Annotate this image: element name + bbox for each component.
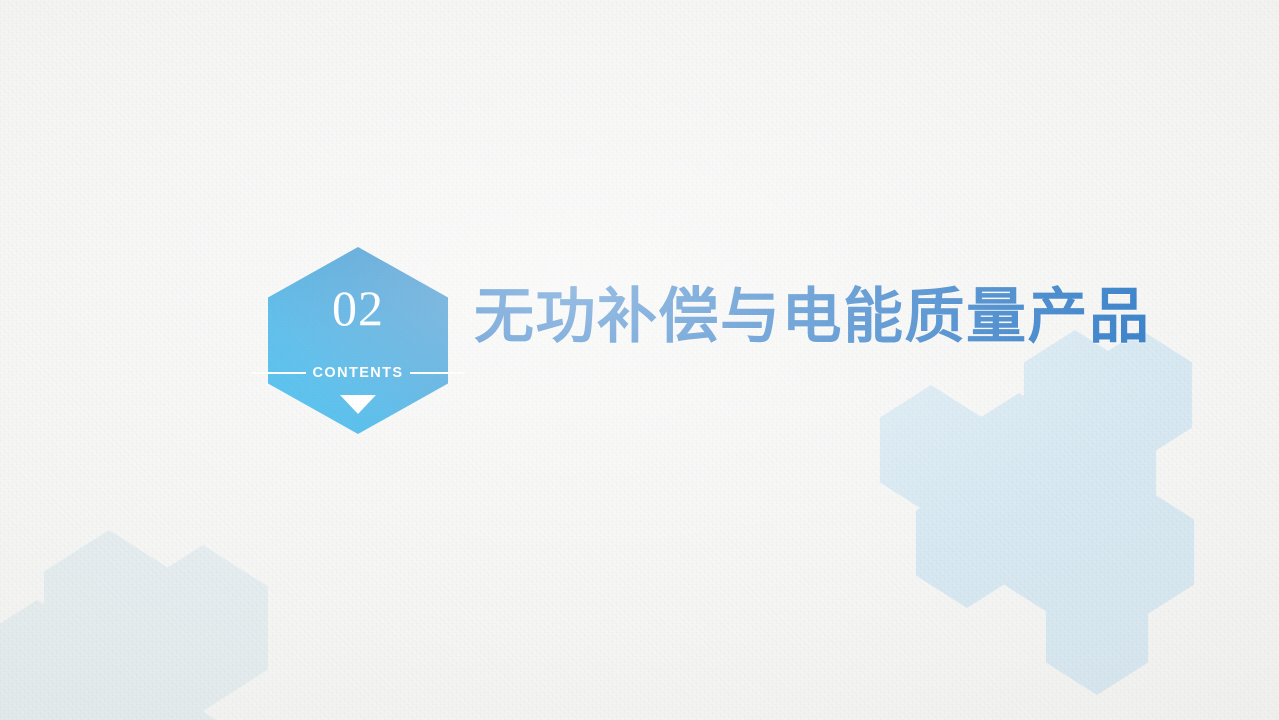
- decorative-hexagon: [996, 487, 1114, 617]
- decorative-hexagon-cluster-right: [0, 0, 1279, 720]
- decorative-hexagon: [1084, 487, 1202, 617]
- presentation-slide: 02 CONTENTS 无功补偿与电能质量产品: [0, 0, 1279, 720]
- decorative-hexagon: [872, 385, 990, 515]
- contents-label: CONTENTS: [313, 365, 404, 381]
- rule-right: [410, 372, 465, 374]
- decorative-hexagon: [1038, 565, 1156, 695]
- decorative-hexagon: [1046, 405, 1164, 535]
- section-number-badge: 02 CONTENTS: [268, 247, 448, 434]
- decorative-hexagon: [960, 393, 1078, 523]
- decorative-hexagon: [128, 545, 278, 711]
- page-title: 无功补偿与电能质量产品: [474, 286, 1151, 349]
- rule-left: [251, 372, 306, 374]
- decorative-hexagon: [64, 620, 214, 720]
- decorative-hexagon: [908, 478, 1026, 608]
- decorative-hexagon: [0, 600, 112, 720]
- triangle-down-icon: [340, 395, 376, 414]
- section-number: 02: [268, 283, 448, 333]
- vignette-overlay: [0, 0, 1279, 720]
- paper-texture-overlay: [0, 0, 1279, 720]
- decorative-hexagon: [110, 700, 260, 720]
- contents-label-row: CONTENTS: [251, 364, 465, 382]
- decorative-hexagon: [12, 690, 162, 720]
- decorative-hexagon: [34, 530, 184, 696]
- decorative-hexagon-cluster-left: [0, 0, 1279, 720]
